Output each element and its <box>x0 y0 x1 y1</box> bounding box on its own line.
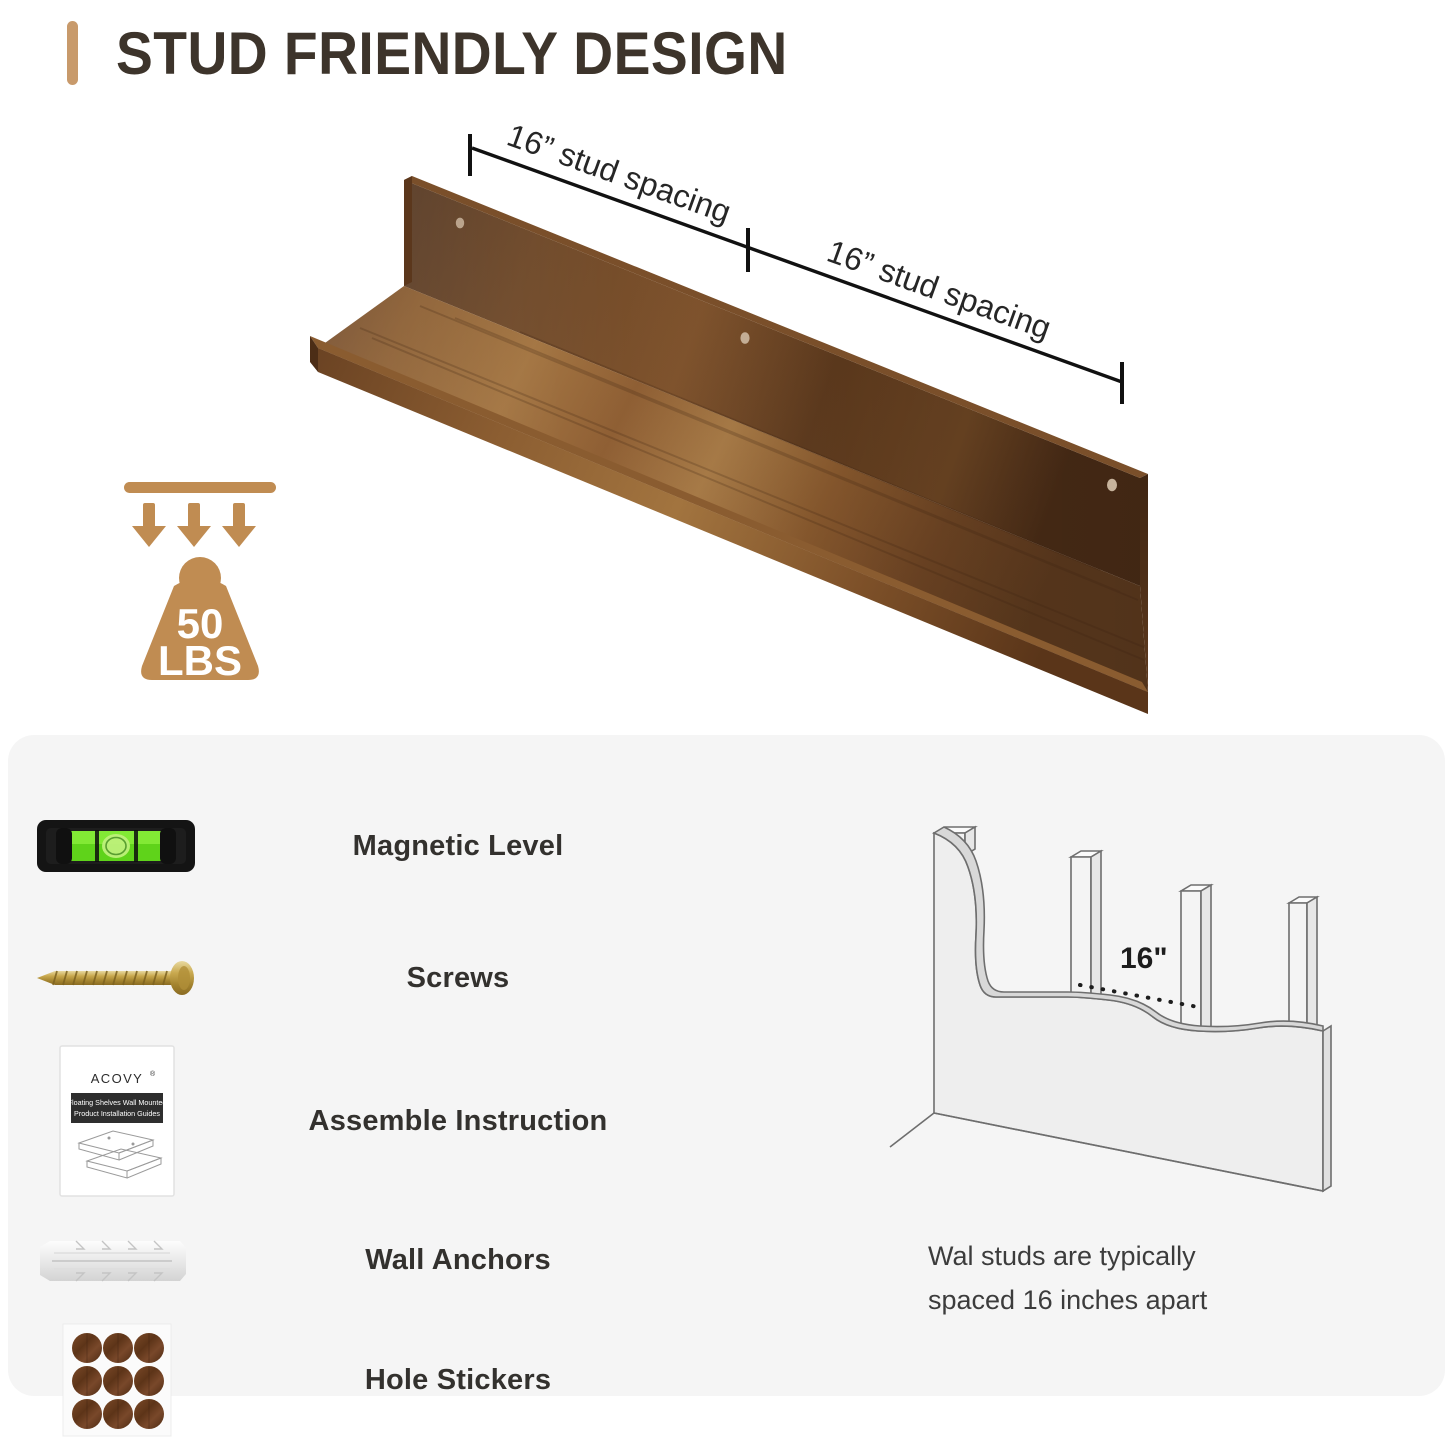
drywall-panel-face <box>934 833 1323 1191</box>
accessory-list: Magnetic Level <box>8 775 728 1437</box>
mounting-hole <box>456 218 464 229</box>
accessory-label: Screws <box>208 962 728 995</box>
screw-icon <box>8 921 208 1035</box>
mounting-hole <box>740 332 749 344</box>
floor-corner-line <box>890 1113 934 1147</box>
accessory-row-assemble-instruction: ACOVY ® Floating Shelves Wall Mounted Pr… <box>8 1041 728 1201</box>
wall-stud <box>1289 897 1317 1035</box>
title-accent-bar <box>67 21 78 85</box>
stud-wall-diagram: 16" <box>868 795 1338 1225</box>
wall-anchor-icon <box>8 1203 208 1317</box>
bubble-level-icon <box>8 789 208 903</box>
page-title: STUD FRIENDLY DESIGN <box>116 19 788 88</box>
load-surface-bar <box>124 482 276 493</box>
shelf-left-endcap <box>404 176 412 286</box>
accessories-panel: Magnetic Level <box>8 735 1445 1396</box>
load-arrow <box>222 503 256 547</box>
accessory-row-magnetic-level: Magnetic Level <box>8 789 728 903</box>
accessory-label: Wall Anchors <box>208 1244 728 1277</box>
dimension-label-right: 16” stud spacing <box>823 233 1056 346</box>
shelf-product <box>310 176 1148 714</box>
weight-unit: LBS <box>158 637 242 684</box>
load-arrows <box>132 503 256 547</box>
accessory-label: Assemble Instruction <box>208 1105 728 1138</box>
manual-banner-line1: Floating Shelves Wall Mounted <box>68 1098 167 1107</box>
drywall-edge-right <box>1323 1026 1331 1191</box>
accessory-row-hole-stickers: Hole Stickers <box>8 1323 728 1437</box>
caption-line-2: spaced 16 inches apart <box>928 1279 1348 1323</box>
stud-diagram-caption: Wal studs are typically spaced 16 inches… <box>928 1235 1348 1322</box>
hole-stickers-icon <box>8 1323 208 1437</box>
page-header: STUD FRIENDLY DESIGN <box>0 8 1445 98</box>
mounting-hole <box>1107 479 1117 491</box>
manual-brand: ACOVY <box>91 1071 144 1086</box>
wall-stud <box>1181 885 1211 1035</box>
accessory-label: Magnetic Level <box>208 830 728 863</box>
load-arrow <box>177 503 211 547</box>
load-arrow <box>132 503 166 547</box>
accessory-row-screws: Screws <box>8 921 728 1035</box>
svg-text:®: ® <box>150 1070 156 1078</box>
caption-line-1: Wal studs are typically <box>928 1235 1348 1279</box>
accessory-label: Hole Stickers <box>208 1364 728 1397</box>
instruction-manual-icon: ACOVY ® Floating Shelves Wall Mounted Pr… <box>8 1041 208 1201</box>
weight-capacity-badge: 50 LBS <box>112 470 312 695</box>
stud-spacing-label: 16" <box>1120 942 1168 975</box>
manual-banner-line2: Product Installation Guides <box>74 1109 160 1118</box>
accessory-row-wall-anchors: Wall Anchors <box>8 1203 728 1317</box>
